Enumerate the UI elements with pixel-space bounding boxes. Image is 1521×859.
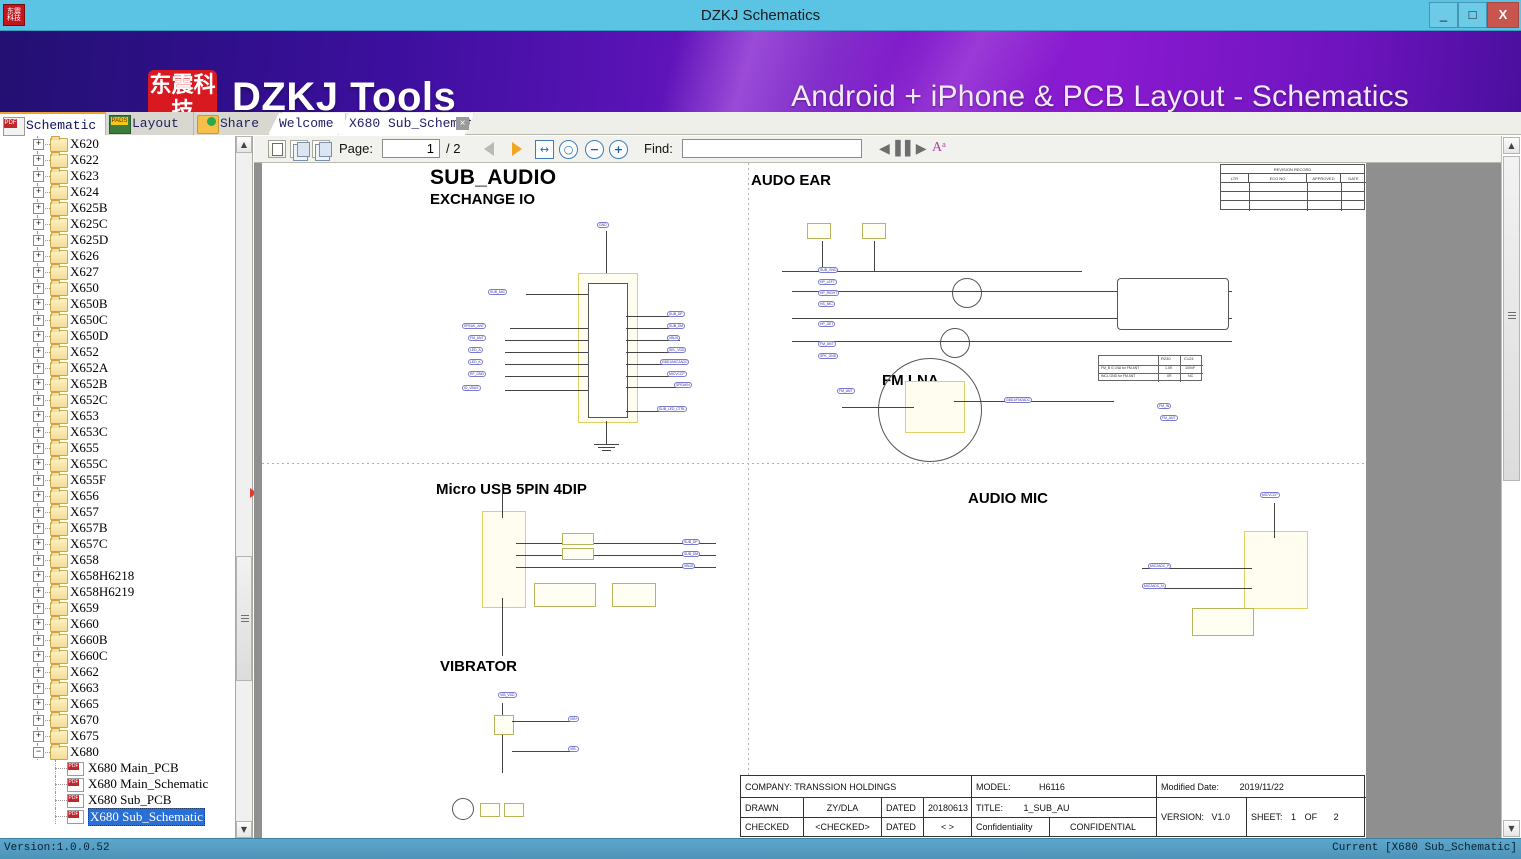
component bbox=[1192, 608, 1254, 636]
tree-folder-x658h6219[interactable]: +X658H6219 bbox=[0, 584, 235, 600]
tree-guide-dots bbox=[43, 672, 50, 674]
wire bbox=[502, 703, 503, 773]
tree-folder-x650[interactable]: +X650 bbox=[0, 280, 235, 296]
tree-guide-dots bbox=[43, 640, 50, 642]
close-button[interactable]: X bbox=[1487, 2, 1519, 28]
version-cell: VERSION: V1.0 bbox=[1156, 798, 1246, 836]
drawn-dated-value: 20180613 bbox=[923, 798, 971, 818]
tree-folder-x652c[interactable]: +X652C bbox=[0, 392, 235, 408]
doc-tab-x680-sub-schematic[interactable]: X680 Sub_Schematic bbox=[338, 113, 474, 135]
wire bbox=[606, 421, 607, 445]
scroll-up-icon[interactable]: ▲ bbox=[236, 136, 252, 153]
tree-guide-dots bbox=[43, 624, 50, 626]
component bbox=[534, 583, 596, 607]
divider-vertical-bottom bbox=[748, 463, 749, 775]
pdf-icon bbox=[67, 778, 84, 792]
folder-icon bbox=[50, 154, 68, 168]
confidentiality-value: CONFIDENTIAL bbox=[1049, 818, 1156, 837]
sheet-of-label: OF bbox=[1305, 812, 1318, 822]
folder-icon bbox=[50, 490, 68, 504]
wire bbox=[602, 450, 611, 451]
title-value: 1_SUB_AU bbox=[1024, 803, 1070, 813]
wire bbox=[598, 447, 615, 448]
net-label: HS_MIC bbox=[818, 301, 835, 307]
tree-guide-dots bbox=[43, 416, 50, 418]
tree-guide-dots bbox=[55, 816, 67, 818]
tree-folder-label: X658 bbox=[70, 552, 99, 568]
tree-folder-x659[interactable]: +X659 bbox=[0, 600, 235, 616]
folder-icon bbox=[50, 186, 68, 200]
doc-tab-welcome[interactable]: Welcome bbox=[268, 113, 346, 135]
net-label: VBUS bbox=[682, 563, 695, 569]
section-title-audo-ear: AUDO EAR bbox=[751, 172, 831, 189]
tree-guide-dots bbox=[43, 192, 50, 194]
tree-guide-dots bbox=[43, 208, 50, 210]
wire bbox=[792, 341, 1232, 342]
tab-share[interactable]: Share bbox=[194, 112, 282, 135]
net-label: SUB_GND bbox=[818, 267, 838, 273]
wire bbox=[1274, 503, 1275, 538]
folder-icon bbox=[50, 538, 68, 552]
checked-dated-value: < > bbox=[923, 818, 971, 837]
tree-folder-x625b[interactable]: +X625B bbox=[0, 200, 235, 216]
find-next-icon[interactable]: ▌▶ bbox=[905, 141, 927, 157]
folder-icon bbox=[50, 202, 68, 216]
folder-icon bbox=[50, 346, 68, 360]
page-total-label: / 2 bbox=[446, 141, 460, 156]
tree-guide-dots bbox=[43, 160, 50, 162]
tree-folder-x658[interactable]: +X658 bbox=[0, 552, 235, 568]
tree-file-x680-main-schematic[interactable]: X680 Main_Schematic bbox=[0, 776, 235, 792]
pdf-viewer: Page: 1 / 2 ↔ ○ − + Find: ◀▐ ▌▶ Aᵃ SUB_A… bbox=[254, 136, 1521, 838]
net-label: MICVCCP bbox=[667, 371, 687, 377]
tree-folder-label: X657 bbox=[70, 504, 99, 520]
net-label: SUB_LED_CTRL bbox=[657, 406, 687, 412]
tree-folder-x655[interactable]: +X655 bbox=[0, 440, 235, 456]
tree-guide-dots bbox=[43, 176, 50, 178]
tree-file-x680-sub-pcb[interactable]: X680 Sub_PCB bbox=[0, 792, 235, 808]
tree-guide-dots bbox=[55, 768, 67, 770]
folder-icon bbox=[50, 410, 68, 424]
tree-folder-x665[interactable]: +X665 bbox=[0, 696, 235, 712]
tree-folder-label: X652A bbox=[70, 360, 108, 376]
folder-icon bbox=[50, 234, 68, 248]
tree-guide-dots bbox=[43, 384, 50, 386]
tree-guide-dots bbox=[43, 224, 50, 226]
folder-icon bbox=[50, 666, 68, 680]
tree-folder-x623[interactable]: +X623 bbox=[0, 168, 235, 184]
wire bbox=[874, 241, 875, 271]
find-label: Find: bbox=[644, 141, 673, 156]
tree-guide-dots bbox=[43, 336, 50, 338]
tree-guide-dots bbox=[55, 800, 67, 802]
tree-folder-x622[interactable]: +X622 bbox=[0, 152, 235, 168]
next-page-button[interactable] bbox=[512, 142, 522, 156]
tab-layout-label: Layout bbox=[132, 116, 179, 131]
tree-file-x680-sub-schematic[interactable]: X680 Sub_Schematic bbox=[0, 808, 235, 824]
revision-col-date: DATE bbox=[1341, 174, 1366, 183]
version-value: V1.0 bbox=[1212, 812, 1231, 822]
transformer-coil-icon bbox=[940, 328, 970, 358]
status-version: Version:1.0.0.52 bbox=[4, 842, 110, 854]
sidebar-scrollbar[interactable]: ▲ ▼ bbox=[236, 136, 253, 838]
model-label: MODEL: bbox=[976, 782, 1011, 792]
app-banner: 东震科技 DZKJ Tools Android + iPhone & PCB L… bbox=[0, 31, 1521, 112]
drawn-value: ZY/DLA bbox=[803, 798, 881, 818]
tree-folder-x656[interactable]: +X656 bbox=[0, 488, 235, 504]
page-label: Page: bbox=[339, 141, 373, 156]
component bbox=[494, 715, 514, 735]
scroll-down-icon[interactable]: ▼ bbox=[236, 821, 252, 838]
tree-guide-dots bbox=[43, 736, 50, 738]
match-case-icon[interactable]: Aᵃ bbox=[932, 140, 946, 156]
page-forward-icon[interactable] bbox=[312, 140, 330, 158]
tree-folder-label: X655 bbox=[70, 440, 99, 456]
ic-fm-lna-body bbox=[905, 381, 965, 433]
net-label: GBD1/MIC2ADC bbox=[660, 359, 689, 365]
previous-page-button[interactable] bbox=[484, 142, 494, 156]
tree-folder-x653c[interactable]: +X653C bbox=[0, 424, 235, 440]
tree-guide-dots bbox=[43, 256, 50, 258]
tree-folder-x625c[interactable]: +X625C bbox=[0, 216, 235, 232]
tree-folder-label: X656 bbox=[70, 488, 99, 504]
tree-guide-dots bbox=[43, 352, 50, 354]
tree-guide-dots bbox=[43, 288, 50, 290]
tree-guide-dots bbox=[43, 240, 50, 242]
revision-col-approved: APPROVED bbox=[1307, 174, 1341, 183]
tree-folder-label: X624 bbox=[70, 184, 99, 200]
wire bbox=[526, 294, 588, 295]
modified-date-label: Modified Date: bbox=[1161, 782, 1219, 792]
net-label: HP_LEFT bbox=[818, 279, 837, 285]
tree-folder-x655c[interactable]: +X655C bbox=[0, 456, 235, 472]
status-bar: Version:1.0.0.52 Current [X680 Sub_Schem… bbox=[0, 838, 1521, 859]
wire bbox=[505, 352, 588, 353]
sheet-label: SHEET: bbox=[1251, 812, 1283, 822]
tab-schematic-label: Schematic bbox=[26, 118, 96, 133]
wire bbox=[606, 231, 607, 273]
wire bbox=[842, 407, 914, 408]
brand-title: DZKJ Tools bbox=[232, 75, 456, 112]
folder-icon bbox=[50, 618, 68, 632]
folder-icon bbox=[50, 682, 68, 696]
tree-guide-dots bbox=[43, 752, 50, 754]
tree-guide-dots bbox=[43, 544, 50, 546]
tree-guide-dots bbox=[43, 592, 50, 594]
tree-guide-dots bbox=[43, 464, 50, 466]
sheet-value: 1 bbox=[1291, 812, 1296, 822]
folder-icon bbox=[50, 714, 68, 728]
wire bbox=[502, 483, 503, 518]
close-icon[interactable]: × bbox=[456, 117, 469, 130]
component bbox=[562, 533, 594, 545]
wire bbox=[505, 364, 588, 365]
company-value: TRANSSION HOLDINGS bbox=[794, 782, 896, 792]
maximize-button[interactable]: □ bbox=[1458, 2, 1487, 28]
tree-guide-dots bbox=[43, 432, 50, 434]
drill-legend-icon bbox=[452, 798, 474, 820]
model-value: H6116 bbox=[1039, 782, 1065, 792]
tree-folder-x657c[interactable]: +X657C bbox=[0, 536, 235, 552]
tree-folder-x625d[interactable]: +X625D bbox=[0, 232, 235, 248]
title-block: COMPANY: TRANSSION HOLDINGS MODEL: H6116… bbox=[740, 775, 1365, 837]
fm-lna-row0-c124: 100nF bbox=[1185, 366, 1195, 370]
tree-folder-x660b[interactable]: +X660B bbox=[0, 632, 235, 648]
wire bbox=[505, 390, 588, 391]
revision-col-ltr: LTR bbox=[1221, 174, 1249, 183]
net-label: SPEAK_ANT bbox=[462, 323, 486, 329]
search-input[interactable] bbox=[682, 139, 862, 158]
net-label: SUB_DM bbox=[682, 551, 700, 557]
net-label: FM_ANT bbox=[1160, 415, 1178, 421]
sheet-total: 2 bbox=[1334, 812, 1339, 822]
sidebar-scroll-thumb[interactable] bbox=[236, 556, 252, 681]
folder-icon bbox=[50, 378, 68, 392]
tree-guide-dots bbox=[43, 576, 50, 578]
pdf-icon bbox=[67, 810, 84, 824]
tree-folder-label: X659 bbox=[70, 600, 99, 616]
net-label: SPK_GND bbox=[818, 353, 838, 359]
dzkj-logo-icon: 东震科技 bbox=[148, 70, 217, 112]
net-label: SPEAKN bbox=[674, 382, 692, 388]
tree-folder-x670[interactable]: +X670 bbox=[0, 712, 235, 728]
tree-folder-x624[interactable]: +X624 bbox=[0, 184, 235, 200]
net-label: GND bbox=[597, 222, 609, 228]
folder-icon bbox=[50, 746, 68, 760]
folder-icon bbox=[50, 170, 68, 184]
net-label: RF_GND bbox=[468, 371, 486, 377]
tree-guide-dots bbox=[43, 272, 50, 274]
component bbox=[612, 583, 656, 607]
page-input[interactable]: 1 bbox=[382, 139, 440, 158]
revision-record-table: REVISION RECORD LTR ECO NO APPROVED DATE bbox=[1220, 164, 1365, 210]
tree-folder-label: X625B bbox=[70, 200, 108, 216]
section-subtitle-exchange-io: EXCHANGE IO bbox=[430, 191, 535, 208]
tree-folder-x657b[interactable]: +X657B bbox=[0, 520, 235, 536]
fit-page-icon[interactable]: ○ bbox=[559, 140, 578, 159]
net-label: SUB_DM bbox=[667, 323, 685, 329]
tree-folder-x655f[interactable]: +X655F bbox=[0, 472, 235, 488]
tree-guide-dots bbox=[43, 608, 50, 610]
tree-folder-label: X650D bbox=[70, 328, 108, 344]
fm-lna-col-c124: C124 bbox=[1184, 356, 1194, 361]
tab-schematic[interactable]: Schematic bbox=[0, 112, 106, 135]
fit-width-icon[interactable]: ↔ bbox=[535, 140, 554, 159]
find-previous-icon[interactable]: ◀▐ bbox=[879, 141, 901, 157]
tree-guide-dots bbox=[43, 480, 50, 482]
folder-icon bbox=[50, 426, 68, 440]
net-label: HP_RIGHT bbox=[818, 290, 839, 296]
tree-folder-x650b[interactable]: +X650B bbox=[0, 296, 235, 312]
folder-icon bbox=[50, 138, 68, 152]
tree-folder-label: X680 bbox=[70, 744, 99, 760]
folder-icon bbox=[50, 362, 68, 376]
wire bbox=[505, 376, 588, 377]
tree-file-label: X680 Main_PCB bbox=[88, 760, 179, 776]
net-label: FM_ANT bbox=[468, 335, 486, 341]
headphone-jack-symbol bbox=[1117, 278, 1229, 330]
tree-folder-label: X660C bbox=[70, 648, 108, 664]
copy-icon[interactable] bbox=[268, 140, 286, 158]
tree-guide-dots bbox=[43, 656, 50, 658]
checked-dated-label: DATED bbox=[881, 818, 923, 837]
window-title: DZKJ Schematics bbox=[0, 0, 1521, 31]
modified-date-value: 2019/11/22 bbox=[1240, 782, 1284, 792]
fm-lna-row1-c124: NC bbox=[1188, 374, 1193, 378]
fm-lna-row0-label: FM_B G LNA for FM ANT bbox=[1101, 366, 1139, 370]
tree-guide-dots bbox=[43, 320, 50, 322]
tree-folder-x652[interactable]: +X652 bbox=[0, 344, 235, 360]
title-cell: TITLE: 1_SUB_AU bbox=[971, 798, 1156, 818]
tree-folder-x652b[interactable]: +X652B bbox=[0, 376, 235, 392]
net-label: HP_DET bbox=[818, 321, 835, 327]
tree-folder-x626[interactable]: +X626 bbox=[0, 248, 235, 264]
folder-icon bbox=[50, 698, 68, 712]
version-label: VERSION: bbox=[1161, 812, 1204, 822]
tree-folder-x657[interactable]: +X657 bbox=[0, 504, 235, 520]
tree-folder-x662[interactable]: +X662 bbox=[0, 664, 235, 680]
tab-layout[interactable]: Layout bbox=[106, 112, 194, 135]
tree-folder-x680[interactable]: −X680 bbox=[0, 744, 235, 760]
tree-folder-label: X657B bbox=[70, 520, 108, 536]
net-label: GBD1/FM2ADC bbox=[1004, 397, 1032, 403]
scroll-down-icon[interactable]: ▼ bbox=[1503, 820, 1520, 837]
fm-lna-row0-r230: 1.0K bbox=[1165, 366, 1172, 370]
folder-icon bbox=[50, 602, 68, 616]
tree-folder-label: X623 bbox=[70, 168, 99, 184]
tree-folder-label: X652C bbox=[70, 392, 108, 408]
sheet-cell: SHEET: 1 OF 2 bbox=[1246, 798, 1366, 836]
section-title-vibrator: VIBRATOR bbox=[440, 658, 517, 675]
tree-folder-x660c[interactable]: +X660C bbox=[0, 648, 235, 664]
tree-folder-label: X663 bbox=[70, 680, 99, 696]
tree-guide-dots bbox=[43, 704, 50, 706]
tree-folder-label: X625C bbox=[70, 216, 108, 232]
folder-icon bbox=[50, 458, 68, 472]
schematic-page[interactable]: SUB_AUDIO EXCHANGE IO AUDO EAR FM LNA Mi… bbox=[262, 163, 1366, 838]
net-label: SUB_DP bbox=[667, 311, 685, 317]
transformer-coil-icon bbox=[952, 278, 982, 308]
company-cell: COMPANY: TRANSSION HOLDINGS bbox=[741, 776, 971, 798]
folder-icon bbox=[50, 314, 68, 328]
ic-micro-usb-body bbox=[482, 511, 526, 608]
divider-vertical-top bbox=[748, 163, 749, 463]
wire bbox=[1152, 588, 1252, 589]
viewer-scrollbar[interactable]: ▲ ▼ bbox=[1501, 136, 1521, 838]
banner-tagline: Android + iPhone & PCB Layout - Schemati… bbox=[791, 80, 1409, 112]
tree-folder-x620[interactable]: +X620 bbox=[0, 136, 235, 152]
tree-folder-label: X653C bbox=[70, 424, 108, 440]
wire bbox=[954, 401, 1114, 402]
tree-folder-label: X675 bbox=[70, 728, 99, 744]
scroll-up-icon[interactable]: ▲ bbox=[1503, 137, 1520, 154]
pdf-toolbar: Page: 1 / 2 ↔ ○ − + Find: ◀▐ ▌▶ Aᵃ bbox=[254, 136, 1521, 163]
divider-horizontal bbox=[262, 463, 1366, 464]
folder-icon bbox=[50, 330, 68, 344]
component bbox=[862, 223, 886, 239]
legend-box bbox=[504, 803, 524, 817]
component bbox=[807, 223, 831, 239]
wire bbox=[512, 721, 574, 722]
fm-lna-table: R230 C124 FM_B G LNA for FM ANT 1.0K 100… bbox=[1098, 355, 1202, 381]
tree-folder-label: X625D bbox=[70, 232, 108, 248]
tree-folder-label: X627 bbox=[70, 264, 99, 280]
net-label: FM_ANT bbox=[818, 341, 836, 347]
folder-icon bbox=[50, 394, 68, 408]
pdf-icon bbox=[67, 794, 84, 808]
ic-exchange-io-outline bbox=[588, 283, 628, 418]
folder-icon bbox=[50, 442, 68, 456]
net-label: VBUS bbox=[667, 335, 680, 341]
tree-guide-dots bbox=[43, 448, 50, 450]
wire bbox=[594, 444, 619, 445]
company-label: COMPANY: bbox=[745, 782, 792, 792]
tree-folder-x627[interactable]: +X627 bbox=[0, 264, 235, 280]
folder-icon bbox=[50, 250, 68, 264]
viewer-scroll-thumb[interactable] bbox=[1503, 156, 1520, 481]
folder-icon bbox=[50, 506, 68, 520]
net-label: LED_K bbox=[468, 359, 483, 365]
section-title-sub-audio: SUB_AUDIO bbox=[430, 166, 556, 190]
status-current-document: Current [X680 Sub_Schematic] bbox=[1332, 842, 1517, 854]
tab-share-label: Share bbox=[220, 116, 259, 131]
tree-folder-x650c[interactable]: +X650C bbox=[0, 312, 235, 328]
net-label: MIC2ADC_N bbox=[1142, 583, 1166, 589]
wire bbox=[510, 328, 588, 329]
checked-label: CHECKED bbox=[741, 818, 803, 837]
net-label: ID_VBUS bbox=[462, 385, 481, 391]
tree-file-x680-main-pcb[interactable]: X680 Main_PCB bbox=[0, 760, 235, 776]
section-title-audio-mic: AUDIO MIC bbox=[968, 490, 1048, 507]
tree-folder-label: X653 bbox=[70, 408, 99, 424]
tree-folder-x663[interactable]: +X663 bbox=[0, 680, 235, 696]
tree-folder-x652a[interactable]: +X652A bbox=[0, 360, 235, 376]
legend-box bbox=[480, 803, 500, 817]
tree-folder-label: X650B bbox=[70, 296, 108, 312]
tree-guide-dots bbox=[43, 512, 50, 514]
tree-guide-dots bbox=[43, 400, 50, 402]
folder-icon bbox=[50, 522, 68, 536]
tree-folder-label: X620 bbox=[70, 136, 99, 152]
tree-folder-x675[interactable]: +X675 bbox=[0, 728, 235, 744]
revision-col-eco: ECO NO bbox=[1249, 174, 1307, 183]
minimize-button[interactable]: _ bbox=[1429, 2, 1458, 28]
folder-icon bbox=[50, 282, 68, 296]
tree-folder-label: X622 bbox=[70, 152, 99, 168]
fm-lna-row1-label: INCL GND for FM ANT bbox=[1101, 374, 1135, 378]
pads-icon bbox=[109, 115, 131, 134]
tree-folder-x658h6218[interactable]: +X658H6218 bbox=[0, 568, 235, 584]
file-tree-sidebar[interactable]: +X620+X622+X623+X624+X625B+X625C+X625D+X… bbox=[0, 136, 236, 838]
net-label: SUB_DP bbox=[682, 539, 700, 545]
tree-folder-label: X660B bbox=[70, 632, 108, 648]
model-cell: MODEL: H6116 bbox=[971, 776, 1156, 798]
net-label: SEL_VDD bbox=[667, 347, 686, 353]
folder-icon bbox=[50, 298, 68, 312]
folder-icon bbox=[50, 266, 68, 280]
pdf-icon bbox=[67, 762, 84, 776]
tree-folder-x660[interactable]: +X660 bbox=[0, 616, 235, 632]
tree-folder-label: X652 bbox=[70, 344, 99, 360]
tree-folder-x650d[interactable]: +X650D bbox=[0, 328, 235, 344]
tree-guide-dots bbox=[43, 720, 50, 722]
folder-icon bbox=[50, 730, 68, 744]
page-back-icon[interactable] bbox=[290, 140, 308, 158]
zoom-in-button[interactable]: + bbox=[609, 140, 628, 159]
tree-guide-dots bbox=[43, 528, 50, 530]
tree-folder-x653[interactable]: +X653 bbox=[0, 408, 235, 424]
zoom-out-button[interactable]: − bbox=[585, 140, 604, 159]
